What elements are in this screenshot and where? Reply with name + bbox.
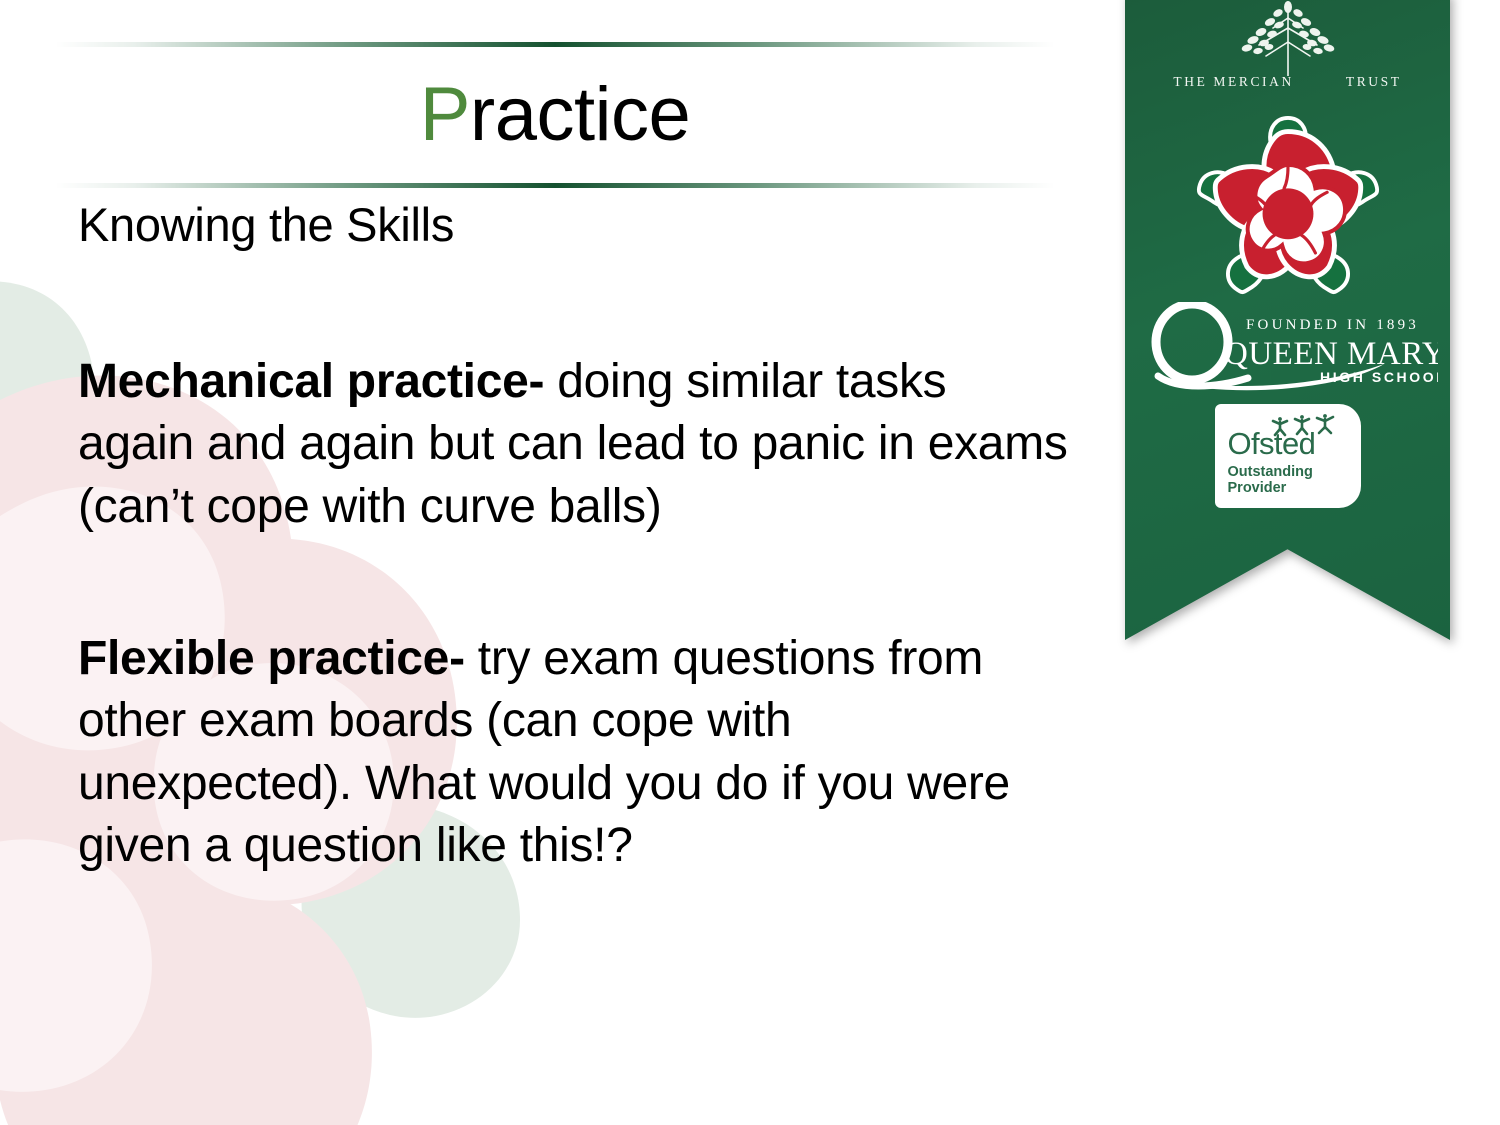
ofsted-badge: Ofsted Outstanding Provider	[1215, 404, 1361, 508]
founded-text: FOUNDED IN 1893	[1246, 317, 1419, 333]
school-type-text: HIGH SCHOOL	[1320, 369, 1438, 385]
trust-word-right: TRUST	[1346, 74, 1402, 89]
page-title: Practice	[420, 77, 691, 153]
title-container: Practice	[55, 55, 1055, 175]
school-banner: THE MERCIANTRUST	[1125, 0, 1450, 640]
divider-top	[55, 42, 1055, 47]
ofsted-rating-line1: Outstanding	[1228, 464, 1361, 480]
tree-icon	[1173, 0, 1403, 76]
ofsted-rating-line2: Provider	[1228, 480, 1361, 496]
paragraph-flexible-lead: Flexible practice-	[78, 632, 465, 685]
paragraph-mechanical-lead: Mechanical practice-	[78, 355, 544, 408]
spacer-two	[78, 538, 1068, 628]
subtitle-text: Knowing the Skills	[78, 196, 1068, 255]
trust-word-left: THE MERCIAN	[1173, 74, 1293, 89]
ofsted-stars-icon	[1269, 411, 1339, 437]
title-rest: ractice	[470, 72, 690, 157]
paragraph-flexible-practice: Flexible practice- try exam questions fr…	[78, 628, 1068, 878]
queen-marys-logo: FOUNDED IN 1893 QUEEN MARY’S HIGH SCHOOL	[1138, 302, 1438, 394]
trust-wordmark: THE MERCIANTRUST	[1173, 74, 1403, 90]
mercian-trust-lockup: THE MERCIANTRUST	[1173, 0, 1403, 98]
title-accent-letter: P	[420, 72, 470, 157]
divider-bottom	[55, 183, 1055, 188]
paragraph-mechanical-practice: Mechanical practice- doing similar tasks…	[78, 351, 1068, 538]
banner-content: THE MERCIANTRUST	[1125, 0, 1450, 640]
school-name-text: QUEEN MARY’S	[1224, 336, 1438, 372]
spacer-one	[78, 255, 1068, 351]
tudor-rose-icon	[1190, 114, 1386, 296]
slide-canvas: Practice Knowing the Skills Mechanical p…	[0, 0, 1500, 1125]
body-content: Knowing the Skills Mechanical practice- …	[78, 196, 1068, 877]
